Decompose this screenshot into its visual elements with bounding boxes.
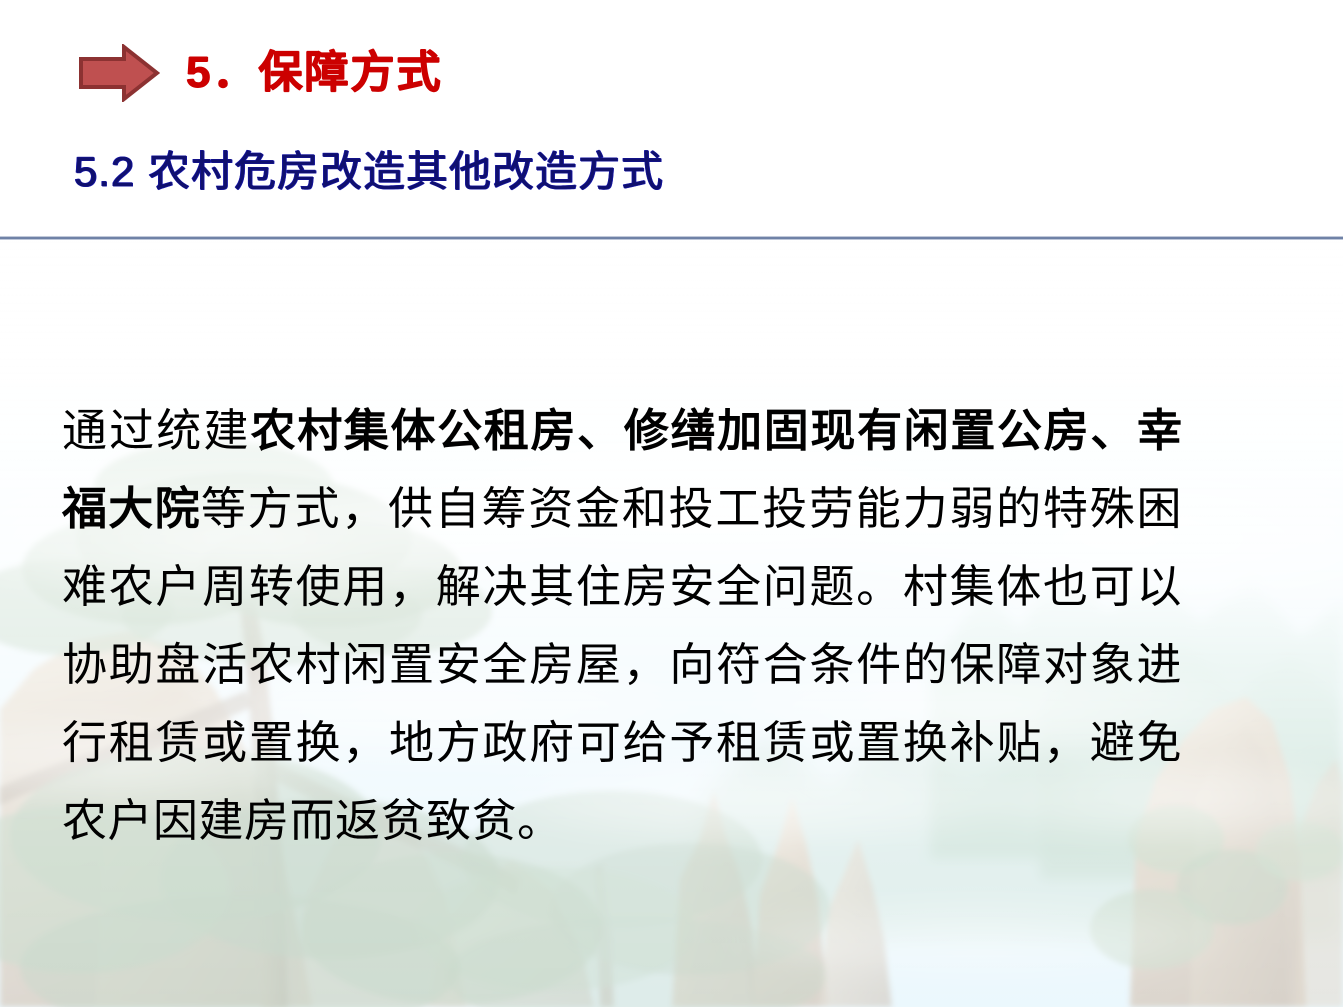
right-arrow-icon	[78, 44, 160, 102]
paragraph-line: 通过统建农村集体公租房、修缮加固现有闲置公房、幸福大院等方式，供自筹资金和投工投…	[62, 392, 1182, 860]
header-divider	[0, 236, 1343, 240]
text-run-plain-1: 通过统建	[62, 406, 251, 456]
body-paragraph: 通过统建农村集体公租房、修缮加固现有闲置公房、幸福大院等方式，供自筹资金和投工投…	[62, 392, 1182, 860]
slide-canvas: 通过统建农村集体公租房、修缮加固现有闲置公房、幸福大院等方式，供自筹资金和投工投…	[0, 0, 1343, 1007]
slide-header: 5．保障方式 5.2 农村危房改造其他改造方式	[0, 0, 1343, 239]
text-run-plain-2: 等方式，供自筹资金和投工投劳能力弱的特殊困难农户周转使用，解决其住房安全问题。村…	[62, 484, 1182, 846]
page-subtitle: 5.2 农村危房改造其他改造方式	[74, 148, 664, 196]
page-title: 5．保障方式	[186, 51, 442, 95]
title-row: 5．保障方式	[78, 44, 442, 102]
